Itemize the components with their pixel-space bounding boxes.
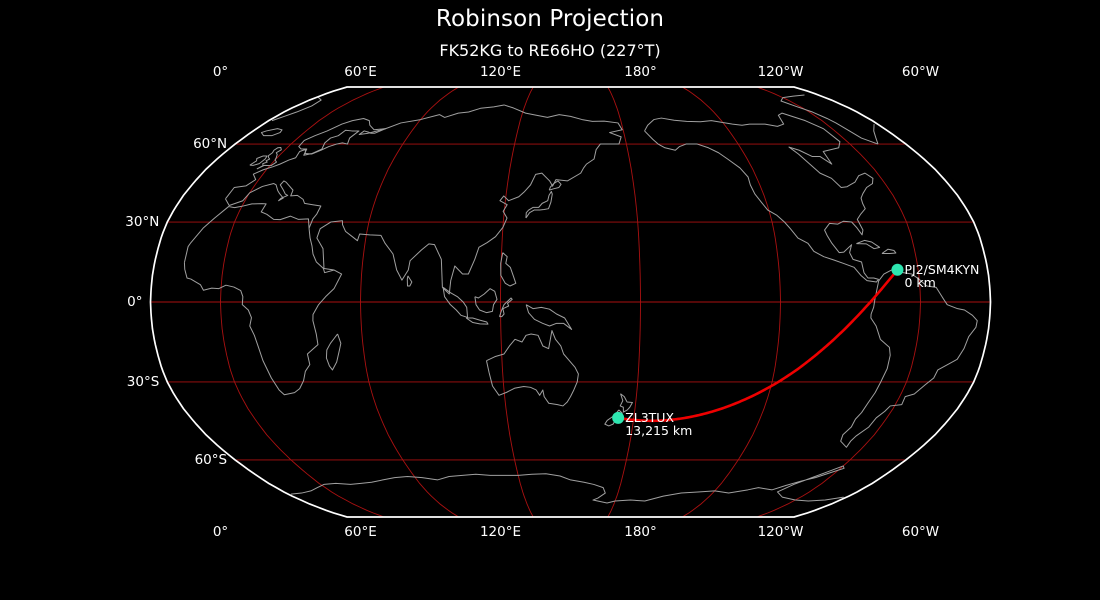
lon-tick-bottom-1: 180° — [624, 524, 657, 540]
lat-tick-4: 60°S — [0, 452, 227, 468]
graticule-layer — [151, 87, 991, 517]
lon-tick-bottom-4: 0° — [213, 524, 228, 540]
lon-tick-top-0: 120°E — [480, 64, 521, 80]
map-figure: Robinson Projection FK52KG to RE66HO (22… — [0, 0, 1100, 600]
lat-tick-0: 60°N — [0, 136, 227, 152]
lat-tick-1: 30°N — [0, 214, 159, 230]
lon-tick-top-4: 0° — [213, 64, 228, 80]
lon-tick-bottom-5: 60°E — [344, 524, 376, 540]
coastline-layer — [184, 95, 977, 503]
lon-tick-bottom-3: 60°W — [902, 524, 939, 540]
great-circle-path — [618, 270, 897, 421]
lon-tick-top-1: 180° — [624, 64, 657, 80]
lat-tick-2: 0° — [0, 294, 143, 310]
lon-tick-top-3: 60°W — [902, 64, 939, 80]
lon-tick-top-2: 120°W — [758, 64, 804, 80]
station-markers — [612, 264, 903, 424]
lon-tick-top-5: 60°E — [344, 64, 376, 80]
lon-tick-bottom-2: 120°W — [758, 524, 804, 540]
lon-tick-bottom-0: 120°E — [480, 524, 521, 540]
destination-distance-label: 13,215 km — [625, 423, 692, 438]
lat-tick-3: 30°S — [0, 374, 159, 390]
robinson-map — [0, 0, 1100, 600]
origin-distance-label: 0 km — [905, 275, 936, 290]
